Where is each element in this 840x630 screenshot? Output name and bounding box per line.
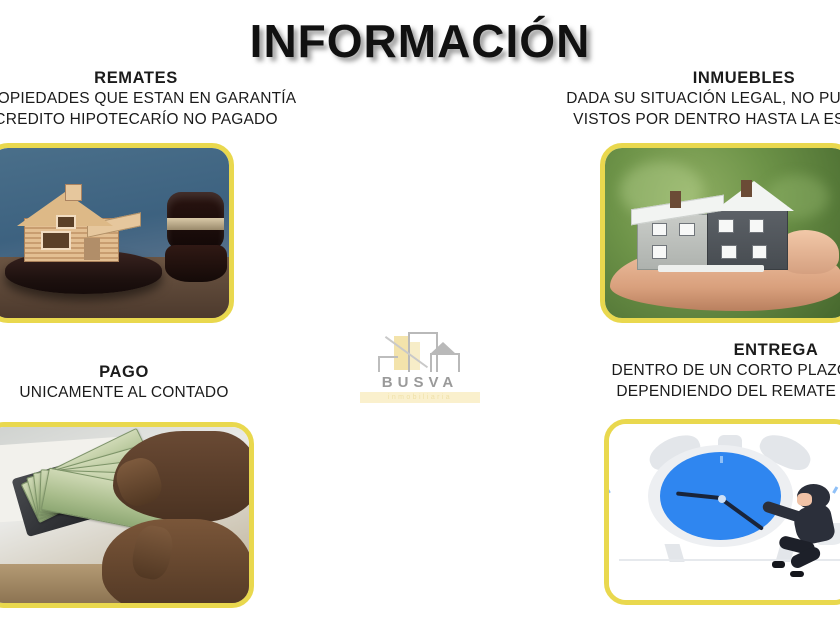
gavel-band — [167, 218, 224, 230]
clock-tick — [720, 456, 723, 463]
person-shoe-front — [772, 561, 785, 568]
logo-brand-name: BUSVA — [360, 374, 480, 391]
logo-step-outline — [378, 356, 398, 372]
entrega-illustration — [609, 424, 840, 600]
section-heading-entrega: ENTREGA — [528, 340, 840, 360]
section-text-pago: PAGO UNICAMENTE AL CONTADO — [0, 362, 340, 403]
house-window-lower — [41, 231, 71, 250]
house-window-5 — [652, 245, 668, 259]
house-chimney — [65, 184, 82, 201]
section-body-entrega-line2: DEPENDIENDO DEL REMATE DE INTERES — [528, 381, 840, 402]
busva-building-mark-icon — [360, 330, 480, 376]
person-shoe-back — [790, 571, 803, 578]
logo-house-outline — [430, 353, 460, 372]
clock-hour-hand — [677, 492, 721, 501]
section-body-pago-line1: UNICAMENTE AL CONTADO — [0, 382, 340, 403]
section-body-inmuebles-line2: VISTOS POR DENTRO HASTA LA ESCRITURA — [496, 109, 840, 130]
gavel-base — [165, 245, 227, 282]
house-right-wing — [707, 206, 788, 271]
house-porch — [658, 265, 764, 272]
model-house — [637, 185, 788, 270]
house-window-6 — [721, 245, 737, 259]
section-body-remates-line2: CREDITO HIPOTECARÍO NO PAGADO — [0, 109, 352, 130]
section-heading-remates: REMATES — [0, 68, 352, 88]
house-window-7 — [752, 245, 768, 259]
page-title: INFORMACIÓN — [0, 14, 840, 68]
entrega-illustration-card — [604, 419, 840, 605]
clock-tick — [605, 486, 611, 494]
house-window-3 — [718, 219, 734, 233]
logo-tagline: inmobiliaria — [360, 392, 480, 403]
remates-photo-card — [0, 143, 234, 323]
house-window-4 — [749, 219, 765, 233]
section-text-remates: REMATES PROPIEDADES QUE ESTAN EN GARANTÍ… — [0, 68, 352, 130]
section-body-inmuebles-line1: DADA SU SITUACIÓN LEGAL, NO PUEDEN SER — [496, 88, 840, 109]
section-heading-inmuebles: INMUEBLES — [496, 68, 840, 88]
inmuebles-photo-card — [600, 143, 840, 323]
house-window-2 — [679, 223, 695, 237]
pago-photo-card: 20 20 — [0, 422, 254, 608]
hand-lower — [102, 519, 254, 608]
remates-photo — [0, 148, 229, 318]
section-body-entrega-line1: DENTRO DE UN CORTO PLAZO DE TIEMPO — [528, 360, 840, 381]
house-roof-right — [714, 181, 794, 211]
busva-logo: BUSVA inmobiliaria — [360, 330, 480, 408]
house-window-upper — [56, 215, 75, 229]
house-chimney-right — [741, 180, 752, 197]
house-chimney-left — [670, 191, 681, 208]
section-heading-pago: PAGO — [0, 362, 340, 382]
person-face — [797, 493, 812, 506]
house-left-wing — [637, 214, 718, 270]
section-body-remates-line1: PROPIEDADES QUE ESTAN EN GARANTÍA — [0, 88, 352, 109]
information-poster: INFORMACIÓN REMATES PROPIEDADES QUE ESTA… — [0, 0, 840, 630]
inmuebles-photo — [605, 148, 840, 318]
section-text-inmuebles: INMUEBLES DADA SU SITUACIÓN LEGAL, NO PU… — [496, 68, 840, 130]
section-text-entrega: ENTREGA DENTRO DE UN CORTO PLAZO DE TIEM… — [528, 340, 840, 402]
person-figure — [754, 484, 836, 583]
wooden-house-model — [17, 187, 136, 262]
house-door — [84, 238, 101, 260]
house-window-1 — [652, 223, 668, 237]
pago-photo: 20 20 — [0, 427, 249, 603]
